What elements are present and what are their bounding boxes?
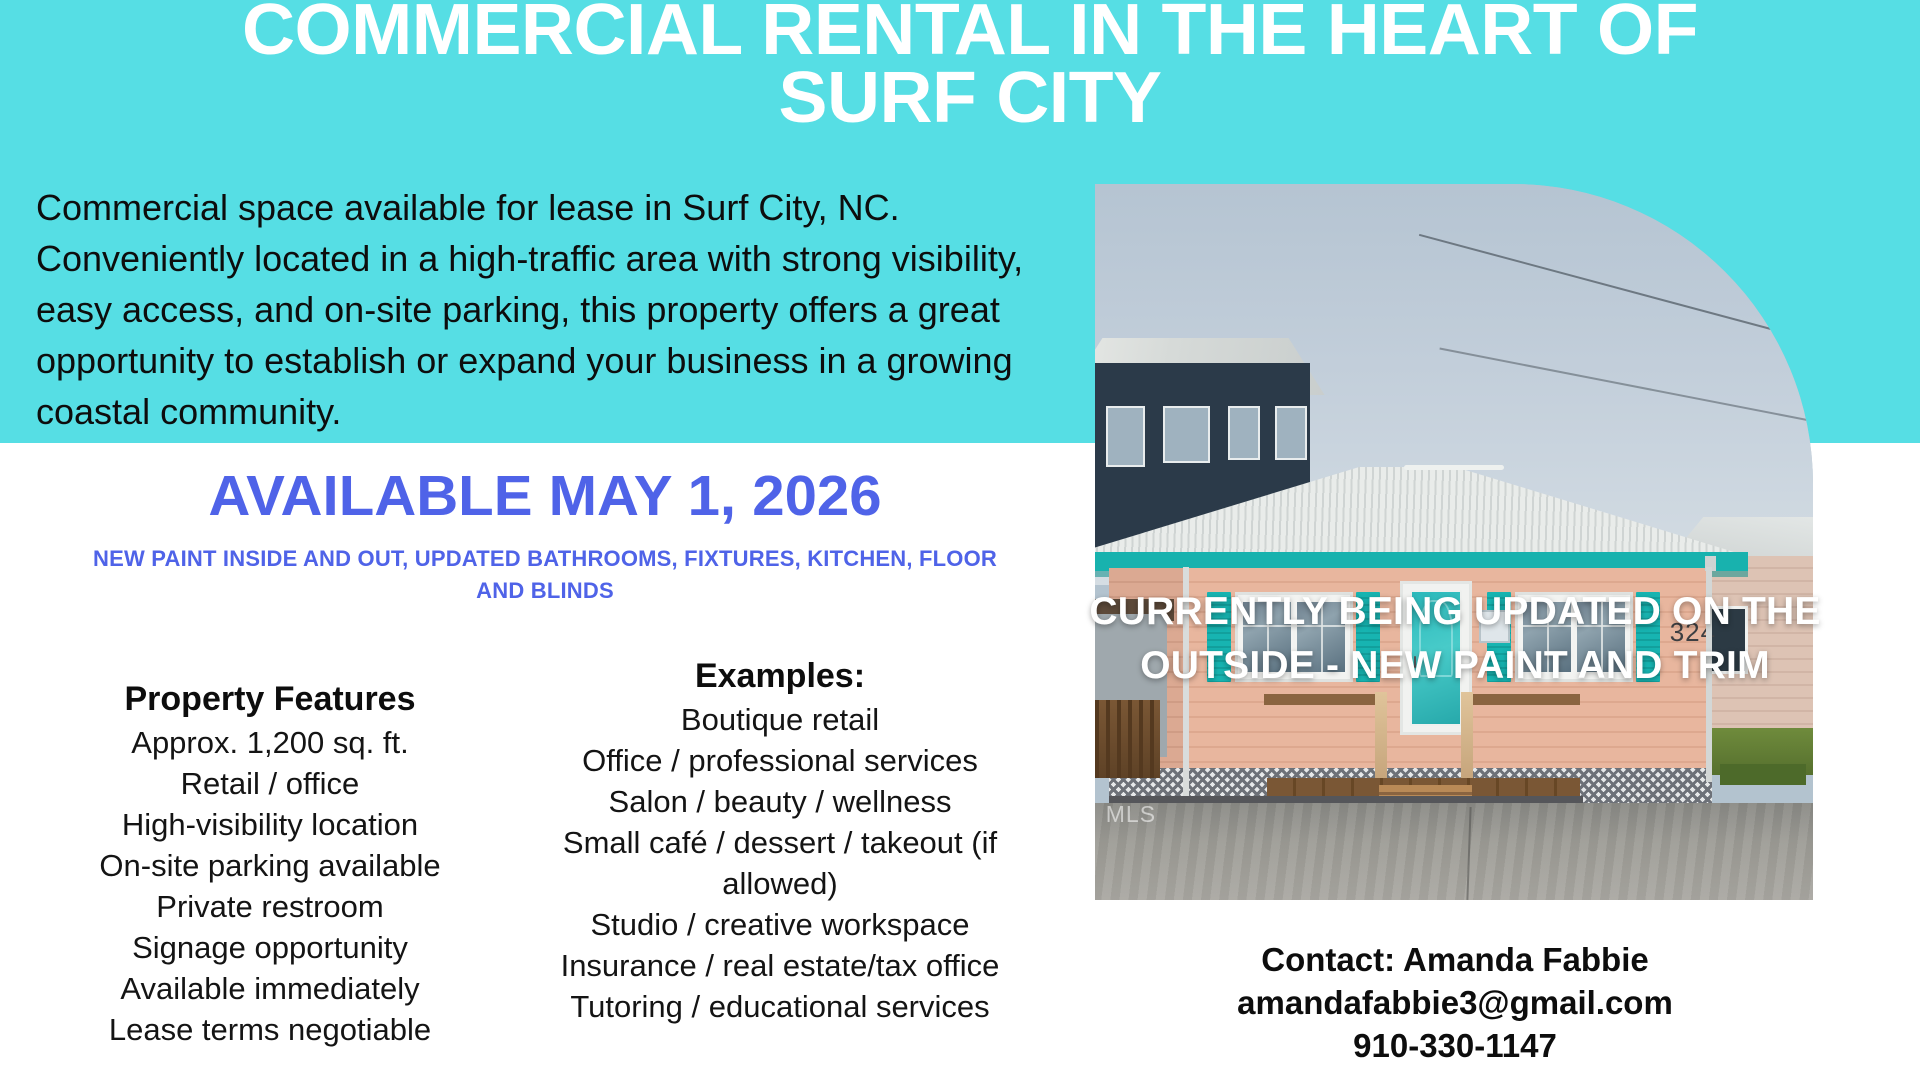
list-item: Lease terms negotiable bbox=[50, 1009, 490, 1050]
list-item: Insurance / real estate/tax office bbox=[520, 945, 1040, 986]
page-title: COMMERCIAL RENTAL IN THE HEART OF SURF C… bbox=[42, 0, 1898, 132]
driveway bbox=[1095, 803, 1813, 900]
page-title-line-1: COMMERCIAL RENTAL IN THE HEART OF bbox=[42, 0, 1898, 64]
list-item: Available immediately bbox=[50, 968, 490, 1009]
contact-email: amandafabbie3@gmail.com bbox=[1085, 981, 1825, 1024]
neighbor-window bbox=[1275, 406, 1307, 460]
property-photo-scene: 324 MLS bbox=[1095, 184, 1813, 900]
list-item: Private restroom bbox=[50, 886, 490, 927]
examples-column: Examples: Boutique retail Office / profe… bbox=[520, 655, 1040, 1027]
examples-heading: Examples: bbox=[520, 655, 1040, 697]
photo-overlay-caption: CURRENTLY BEING UPDATED ON THE OUTSIDE -… bbox=[1085, 585, 1825, 693]
intro-paragraph: Commercial space available for lease in … bbox=[36, 182, 1066, 437]
deck-rail-cap-left bbox=[1264, 694, 1386, 705]
page-title-line-2: SURF CITY bbox=[42, 64, 1898, 132]
contact-name: Contact: Amanda Fabbie bbox=[1085, 938, 1825, 981]
deck-rail-cap-right bbox=[1461, 694, 1579, 705]
availability-headline: AVAILABLE MAY 1, 2026 bbox=[30, 466, 1060, 526]
list-item: Office / professional services bbox=[520, 740, 1040, 781]
contact-block: Contact: Amanda Fabbie amandafabbie3@gma… bbox=[1085, 938, 1825, 1067]
availability-subtitle: NEW PAINT INSIDE AND OUT, UPDATED BATHRO… bbox=[70, 543, 1020, 607]
neighbor-window bbox=[1228, 406, 1260, 460]
list-item: Boutique retail bbox=[520, 699, 1040, 740]
list-item: Signage opportunity bbox=[50, 927, 490, 968]
list-item: On-site parking available bbox=[50, 845, 490, 886]
list-item: Tutoring / educational services bbox=[520, 986, 1040, 1027]
left-porch-railing bbox=[1095, 700, 1160, 779]
list-item: Retail / office bbox=[50, 763, 490, 804]
list-item: High-visibility location bbox=[50, 804, 490, 845]
neighbor-window bbox=[1163, 406, 1210, 463]
property-photo: 324 MLS bbox=[1095, 184, 1813, 900]
list-item: Salon / beauty / wellness bbox=[520, 781, 1040, 822]
roof-ridge bbox=[1404, 465, 1505, 470]
contact-phone: 910-330-1147 bbox=[1085, 1024, 1825, 1067]
list-item: Studio / creative workspace bbox=[520, 904, 1040, 945]
property-features-column: Property Features Approx. 1,200 sq. ft. … bbox=[50, 678, 490, 1050]
lawn-shadow bbox=[1720, 764, 1806, 785]
list-item: Small café / dessert / takeout (if allow… bbox=[520, 822, 1040, 904]
list-item: Approx. 1,200 sq. ft. bbox=[50, 722, 490, 763]
flyer-poster: COMMERCIAL RENTAL IN THE HEART OF SURF C… bbox=[0, 0, 1920, 1080]
property-features-heading: Property Features bbox=[50, 678, 490, 720]
neighbor-window bbox=[1106, 406, 1145, 467]
